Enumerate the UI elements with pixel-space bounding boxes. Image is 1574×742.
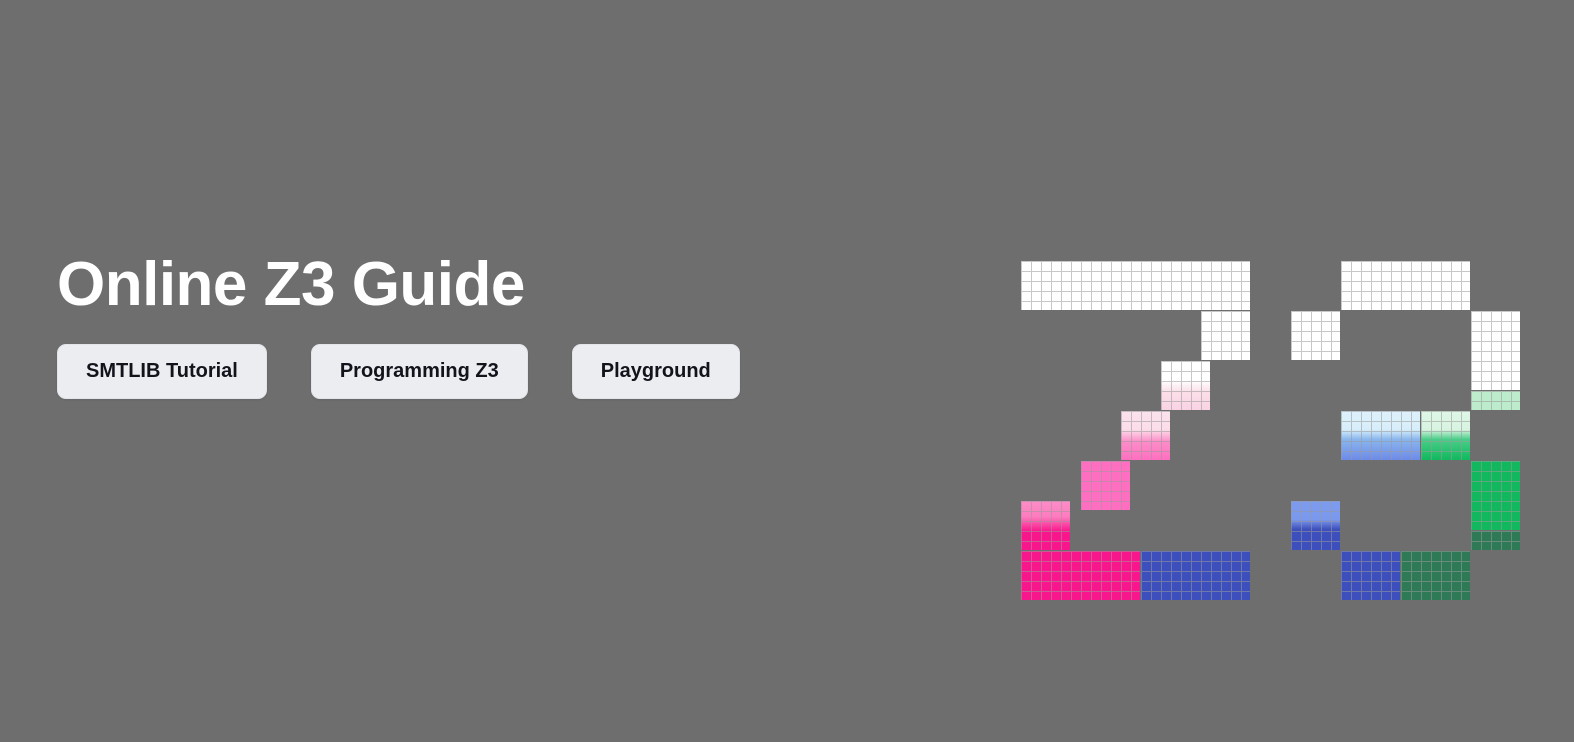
- logo-pixel-block: [1471, 461, 1520, 530]
- logo-pixel-block: [1021, 261, 1250, 310]
- nav-button-group: SMTLIB Tutorial Programming Z3 Playgroun…: [57, 344, 957, 399]
- programming-z3-button[interactable]: Programming Z3: [311, 344, 528, 399]
- logo-pixel-block: [1421, 411, 1470, 460]
- logo-grid-lines: [1021, 501, 1070, 550]
- logo-pixel-block: [1021, 501, 1070, 550]
- logo-grid-lines: [1141, 551, 1250, 600]
- logo-pixel-block: [1471, 531, 1520, 550]
- logo-pixel-block: [1201, 311, 1250, 360]
- logo-pixel-block: [1161, 361, 1210, 410]
- logo-pixel-block: [1291, 311, 1340, 360]
- logo-grid-lines: [1291, 501, 1340, 550]
- smtlib-tutorial-button[interactable]: SMTLIB Tutorial: [57, 344, 267, 399]
- hero-section: Online Z3 Guide SMTLIB Tutorial Programm…: [0, 0, 1574, 742]
- playground-button[interactable]: Playground: [572, 344, 740, 399]
- logo-grid-lines: [1471, 461, 1520, 530]
- hero-text-column: Online Z3 Guide SMTLIB Tutorial Programm…: [57, 252, 957, 399]
- page-title: Online Z3 Guide: [57, 252, 957, 317]
- logo-pixel-block: [1081, 461, 1130, 510]
- logo-grid-lines: [1081, 461, 1130, 510]
- logo-grid-lines: [1201, 311, 1250, 360]
- logo-grid-lines: [1421, 411, 1470, 460]
- logo-grid-lines: [1341, 261, 1470, 310]
- logo-grid-lines: [1471, 391, 1520, 410]
- logo-grid-lines: [1291, 311, 1340, 360]
- logo-pixel-block: [1341, 551, 1400, 600]
- logo-pixel-block: [1021, 551, 1140, 600]
- logo-pixel-block: [1471, 391, 1520, 410]
- logo-pixel-block: [1141, 551, 1250, 600]
- logo-grid-lines: [1401, 551, 1470, 600]
- logo-pixel-block: [1121, 411, 1170, 460]
- logo-grid-lines: [1341, 411, 1420, 460]
- logo-grid-lines: [1341, 551, 1400, 600]
- logo-pixel-block: [1291, 501, 1340, 550]
- logo-grid-lines: [1021, 551, 1140, 600]
- logo-pixel-block: [1341, 261, 1470, 310]
- logo-grid-lines: [1471, 311, 1520, 390]
- logo-grid-lines: [1471, 531, 1520, 550]
- logo-pixel-block: [1401, 551, 1470, 600]
- logo-grid-lines: [1121, 411, 1170, 460]
- logo-grid-lines: [1021, 261, 1250, 310]
- logo-pixel-block: [1471, 311, 1520, 390]
- z3-pixel-logo: [1021, 261, 1521, 581]
- logo-grid-lines: [1161, 361, 1210, 410]
- logo-pixel-block: [1341, 411, 1420, 460]
